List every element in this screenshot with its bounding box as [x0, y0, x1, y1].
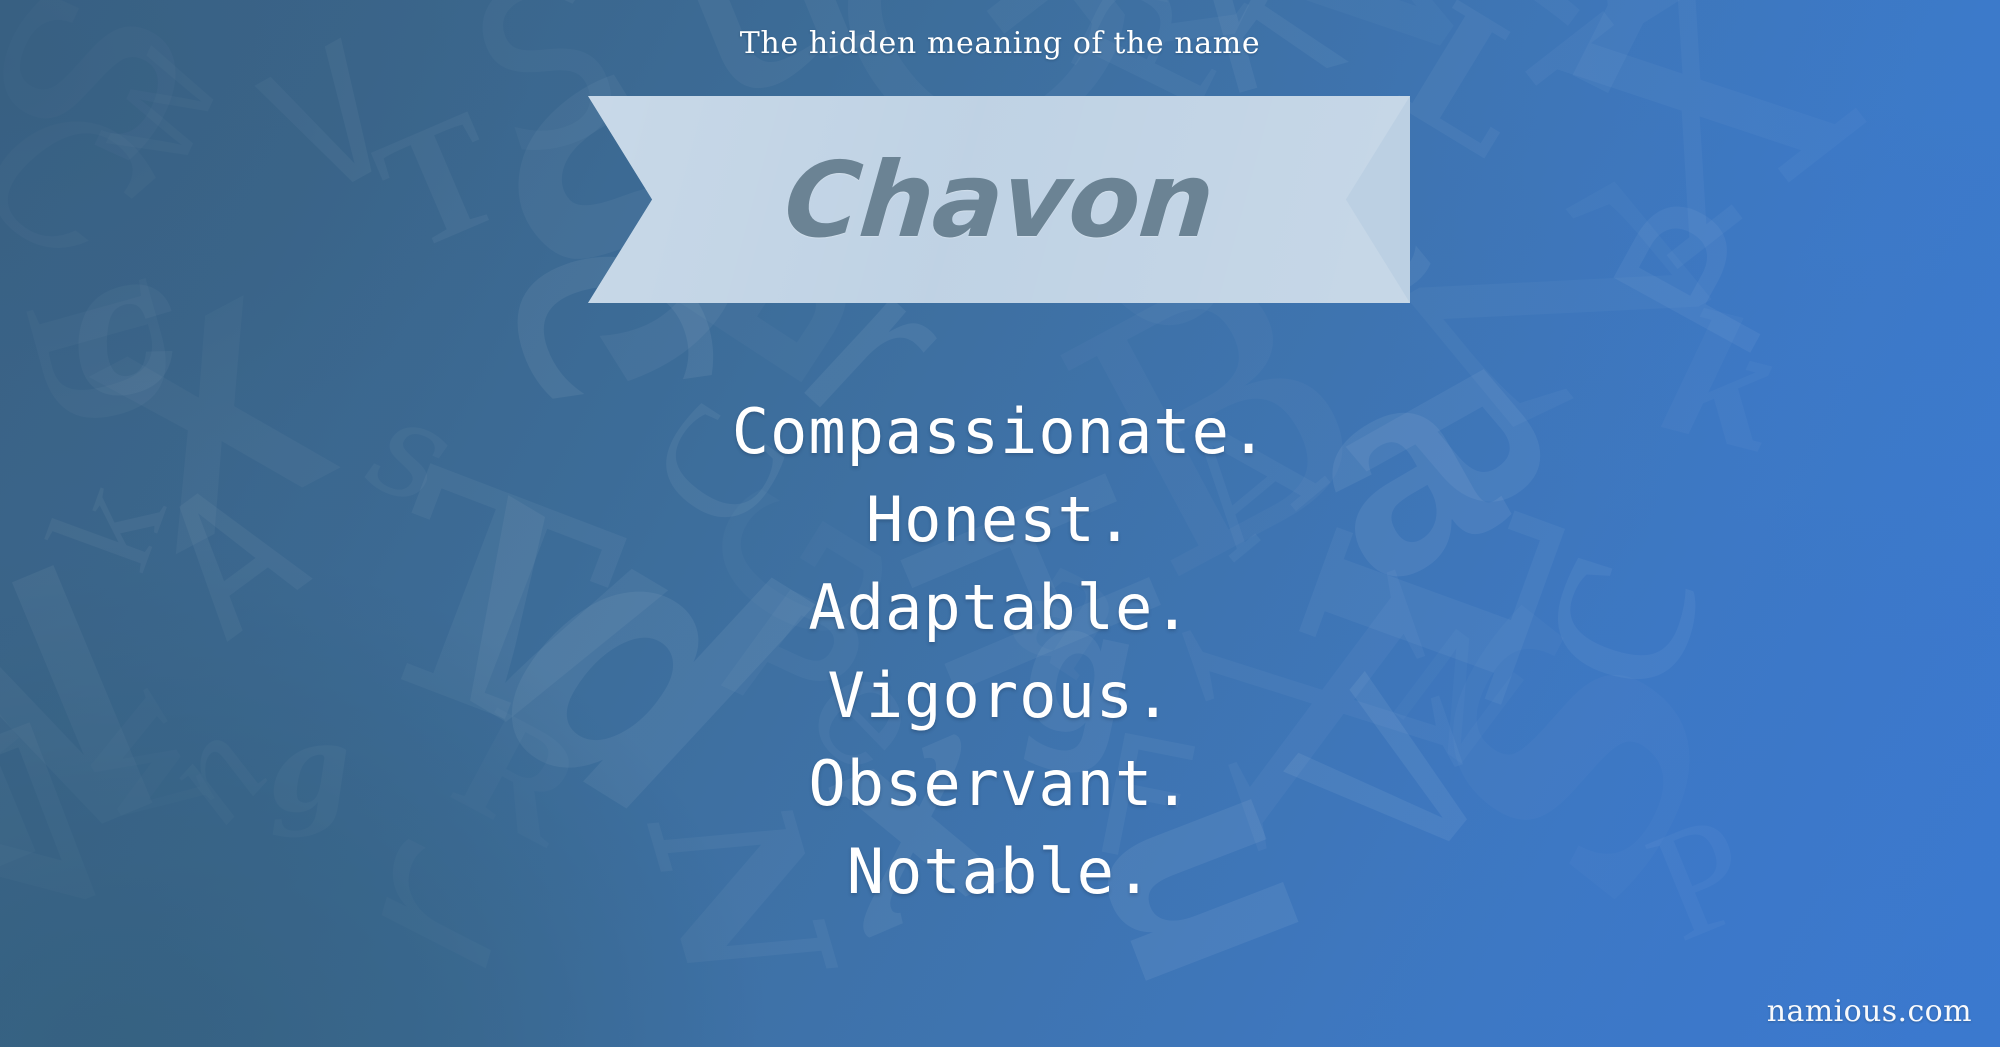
site-watermark: namious.com: [1767, 994, 1972, 1029]
trait-line: Vigorous.: [0, 652, 2000, 740]
name-banner: Chavon: [588, 96, 1410, 303]
name-text: Chavon: [780, 139, 1219, 261]
trait-line: Observant.: [0, 740, 2000, 828]
trait-list: Compassionate.Honest.Adaptable.Vigorous.…: [0, 388, 2000, 916]
trait-line: Compassionate.: [0, 388, 2000, 476]
name-meaning-card: gZchnuYGWbYLsWVSsGRKLXUCcTSBcBCZPcDXscCr…: [0, 0, 2000, 1047]
trait-line: Honest.: [0, 476, 2000, 564]
page-title: The hidden meaning of the name: [0, 26, 2000, 61]
trait-line: Notable.: [0, 828, 2000, 916]
trait-line: Adaptable.: [0, 564, 2000, 652]
